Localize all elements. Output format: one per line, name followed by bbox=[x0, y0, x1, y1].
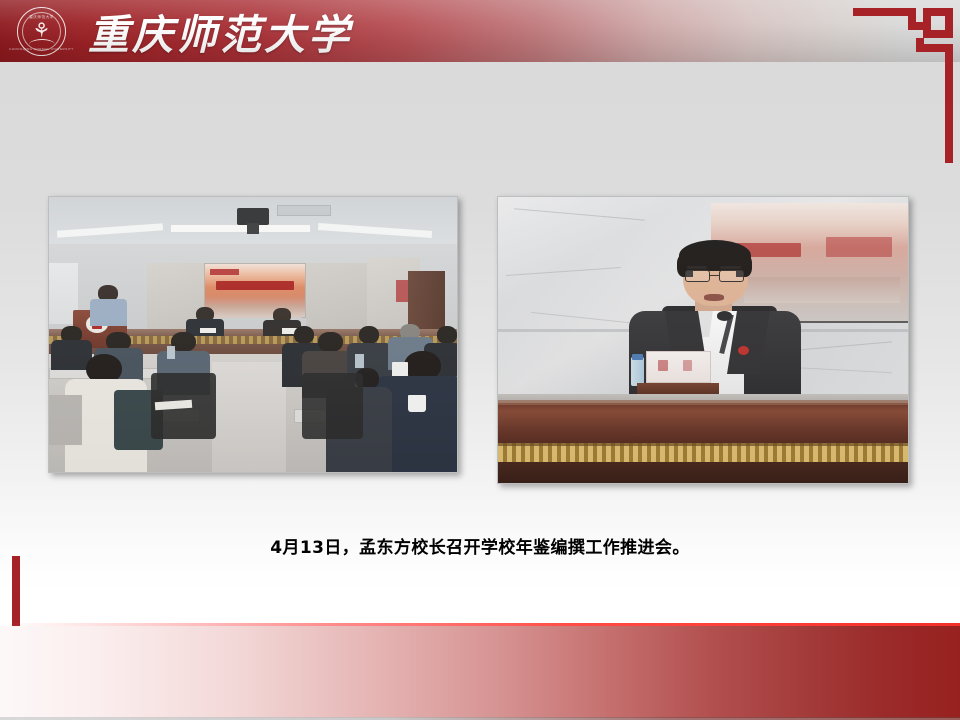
logo-arc-text-bottom: CHONGQING NORMAL UNIVERSITY bbox=[9, 47, 74, 51]
slide-header: 重庆师范大学 ⚘ CHONGQING NORMAL UNIVERSITY 重庆师… bbox=[0, 0, 960, 62]
slide-caption: 4月13日，孟东方校长召开学校年鉴编撰工作推进会。 bbox=[0, 533, 960, 558]
logo-center-mark: ⚘ bbox=[33, 20, 51, 40]
decorative-corner-top-right bbox=[853, 8, 953, 163]
photo-speaker-podium bbox=[497, 196, 909, 484]
university-name-title: 重庆师范大学 bbox=[88, 4, 352, 58]
photo-conference-room bbox=[48, 196, 458, 473]
university-logo-icon: 重庆师范大学 ⚘ CHONGQING NORMAL UNIVERSITY bbox=[17, 7, 66, 56]
slide-footer bbox=[0, 626, 960, 718]
logo-book-shape bbox=[29, 39, 55, 46]
slide: 重庆师范大学 ⚘ CHONGQING NORMAL UNIVERSITY 重庆师… bbox=[0, 0, 960, 720]
